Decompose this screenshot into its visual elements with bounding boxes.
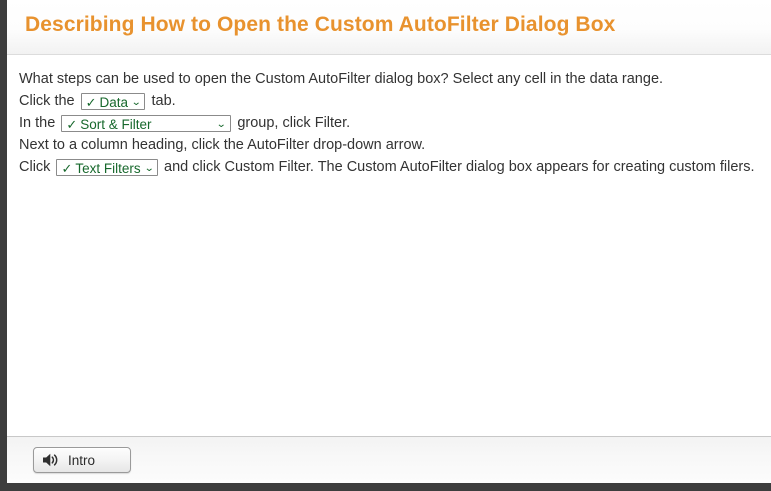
step-line-1: Click the ✓Data⌄ tab. <box>19 91 759 111</box>
question-text: What steps can be used to open the Custo… <box>19 69 759 90</box>
left-edge-rail <box>0 0 7 491</box>
step-1-suffix: tab. <box>152 93 176 109</box>
page-title: Describing How to Open the Custom AutoFi… <box>25 13 615 37</box>
text-filters-select-value: Text Filters <box>75 160 140 177</box>
checkmark-icon: ✓ <box>66 116 77 133</box>
page-header: Describing How to Open the Custom AutoFi… <box>7 0 771 55</box>
step-line-3: Next to a column heading, click the Auto… <box>19 135 759 156</box>
page-footer: Intro <box>7 436 771 483</box>
checkmark-icon: ✓ <box>61 160 72 177</box>
checkmark-icon: ✓ <box>86 94 97 111</box>
intro-button-label: Intro <box>68 453 95 468</box>
data-tab-select-value: Data <box>100 94 129 111</box>
data-tab-select[interactable]: ✓Data⌄ <box>81 93 146 110</box>
speaker-icon <box>42 452 60 468</box>
intro-audio-button[interactable]: Intro <box>33 447 131 473</box>
step-2-suffix: group, click Filter. <box>237 115 350 131</box>
step-2-prefix: In the <box>19 115 55 131</box>
step-1-prefix: Click the <box>19 93 75 109</box>
step-4-prefix: Click <box>19 160 50 176</box>
application-frame: Describing How to Open the Custom AutoFi… <box>0 0 771 491</box>
step-line-4: Click ✓Text Filters⌄ and click Custom Fi… <box>19 157 759 177</box>
bottom-edge-rail <box>0 483 771 491</box>
chevron-down-icon: ⌄ <box>144 160 154 177</box>
text-filters-select[interactable]: ✓Text Filters⌄ <box>56 159 158 176</box>
sort-and-filter-select-value: Sort & Filter <box>80 116 151 133</box>
chevron-down-icon: ⌄ <box>216 116 226 133</box>
chevron-down-icon: ⌄ <box>131 94 141 111</box>
step-line-2: In the ✓Sort & Filter⌄ group, click Filt… <box>19 113 759 133</box>
content-surface: Describing How to Open the Custom AutoFi… <box>7 0 771 483</box>
step-4-suffix: and click Custom Filter. The Custom Auto… <box>164 160 754 176</box>
page-body: What steps can be used to open the Custo… <box>7 55 771 436</box>
sort-and-filter-group-select[interactable]: ✓Sort & Filter⌄ <box>61 115 231 132</box>
